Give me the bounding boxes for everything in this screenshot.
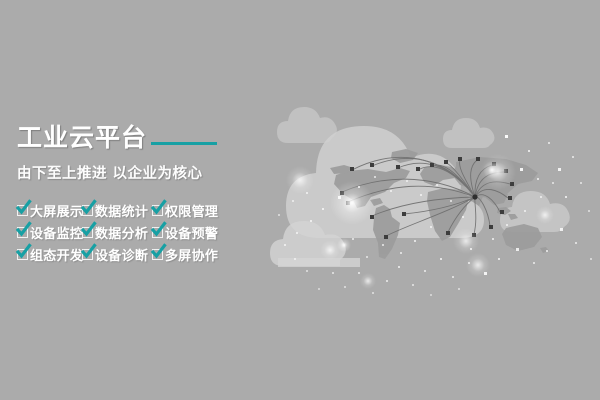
feature-label: 大屏展示: [30, 201, 83, 220]
cloud-right: [500, 191, 570, 232]
check-icon: [152, 205, 163, 216]
feature-label: 多屏协作: [165, 245, 218, 264]
check-icon: [152, 227, 163, 238]
cloud-main: [286, 126, 484, 238]
title-underline-rule: [151, 142, 217, 145]
feature-item-设备监控: 设备监控: [17, 222, 82, 243]
promo-banner: 工业云平台 由下至上推进 以企业为核心 大屏展示 数据统计: [0, 0, 600, 400]
feature-item-权限管理: 权限管理: [152, 200, 230, 221]
cloud-cluster: [277, 107, 494, 148]
feature-item-设备预警: 设备预警: [152, 222, 230, 243]
cloud-upper-right: [443, 118, 494, 148]
check-icon: [17, 205, 28, 216]
cloud-lower-left: [270, 221, 346, 266]
feature-item-多屏协作: 多屏协作: [152, 244, 230, 265]
feature-item-数据分析: 数据分析: [82, 222, 152, 243]
world-map-network: [330, 149, 549, 259]
bokeh-glows: [286, 154, 554, 289]
hero-text-block: 工业云平台 由下至上推进 以企业为核心 大屏展示 数据统计: [17, 122, 277, 265]
cloud-lower-left-base: [278, 258, 360, 267]
world-map-landmass: [330, 149, 549, 259]
feature-label: 数据分析: [95, 223, 148, 242]
page-title: 工业云平台: [17, 123, 147, 153]
network-markers: [340, 157, 514, 239]
title-row: 工业云平台: [17, 122, 277, 154]
check-icon: [17, 249, 28, 260]
feature-item-设备诊断: 设备诊断: [82, 244, 152, 265]
cloud-upper-left: [277, 107, 337, 143]
feature-item-数据统计: 数据统计: [82, 200, 152, 221]
feature-label: 设备诊断: [95, 245, 148, 264]
feature-item-组态开发: 组态开发: [17, 244, 82, 265]
feature-item-大屏展示: 大屏展示: [17, 200, 82, 221]
network-hub-marker: [472, 194, 477, 199]
feature-label: 组态开发: [30, 245, 83, 264]
sparkle-particles: [278, 135, 592, 296]
network-arcs: [342, 157, 510, 236]
check-icon: [82, 205, 93, 216]
check-icon: [17, 227, 28, 238]
check-icon: [152, 249, 163, 260]
check-icon: [82, 227, 93, 238]
page-subtitle: 由下至上推进 以企业为核心: [17, 162, 277, 183]
feature-label: 权限管理: [165, 201, 218, 220]
feature-label: 数据统计: [95, 201, 148, 220]
check-icon: [82, 249, 93, 260]
feature-list: 大屏展示 数据统计 权限管理 设备监控: [17, 200, 277, 265]
feature-label: 设备监控: [30, 223, 83, 242]
feature-label: 设备预警: [165, 223, 218, 242]
